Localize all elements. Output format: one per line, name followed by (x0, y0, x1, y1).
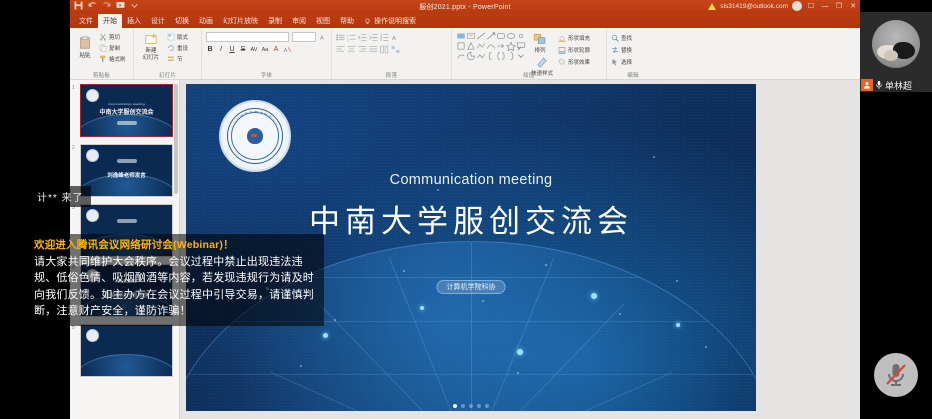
reset-icon (167, 44, 175, 52)
ribbon-group-editing: 查找 替换 选择 编辑 (607, 28, 659, 79)
thumbnail-number: 2 (72, 145, 75, 151)
clear-formatting-icon[interactable]: A (283, 45, 292, 54)
shape-brace-pair-icon[interactable] (496, 51, 506, 61)
replace-label: 替换 (621, 46, 632, 54)
shape-triangle-icon[interactable] (466, 41, 476, 51)
font-name-input[interactable] (206, 32, 289, 42)
avatar[interactable] (792, 1, 802, 11)
section-button[interactable]: 节 (167, 54, 188, 64)
ribbon-group-paragraph: 12 A 段落 (332, 28, 452, 79)
network-node (323, 333, 328, 338)
change-case-button[interactable]: Aa (261, 47, 269, 53)
format-painter-icon (99, 55, 107, 63)
shape-rounded-rect-icon[interactable] (496, 31, 506, 41)
layout-button[interactable]: 版式 (167, 32, 188, 42)
paste-label: 粘贴 (79, 51, 90, 59)
participant-name: 单林超 (885, 79, 912, 92)
underline-button[interactable]: U (228, 46, 236, 53)
thumb-logo (86, 329, 99, 342)
shape-square-icon[interactable] (456, 41, 466, 51)
thumb-globe (80, 114, 173, 137)
copy-icon (99, 44, 107, 52)
shape-pie-icon[interactable] (466, 51, 476, 61)
warning-triangle-icon (708, 3, 716, 10)
slide-org-chip: 计算机学院科协 (437, 280, 506, 294)
quick-styles-icon (535, 55, 549, 68)
svg-text:A: A (284, 48, 288, 54)
powerpoint-window: 服创2021.pptx - PowerPoint sls31419@outloo… (70, 0, 860, 419)
shape-outline-button[interactable]: 形状轮廓 (558, 45, 590, 55)
microphone-muted-icon (884, 362, 908, 388)
shape-fill-button[interactable]: 形状填充 (558, 33, 590, 43)
tab-record[interactable]: 录制 (263, 14, 287, 28)
ribbon: 粘贴 剪切 复制 格式刷 (70, 28, 860, 80)
scissors-icon (99, 33, 107, 41)
thumb-chip (117, 121, 137, 125)
shape-brace-left-icon[interactable] (486, 51, 496, 61)
thumbnail-title: 刘逸峰老师发言 (81, 171, 172, 179)
title-bar-right: sls31419@outlook.com ☐ — ❐ ✕ (708, 1, 858, 11)
shape-effects-icon (558, 58, 566, 66)
thumbnail-slide-1[interactable]: 1 Communication meeting 中南大学服创交流会 (80, 84, 173, 137)
svg-text:2: 2 (347, 37, 349, 41)
group-label-font: 字体 (202, 71, 331, 79)
network-node (676, 323, 680, 327)
justify-icon[interactable] (369, 45, 378, 54)
shape-fill-label: 形状填充 (568, 34, 590, 42)
arrange-label: 排列 (534, 46, 545, 54)
account-email[interactable]: sls31419@outlook.com (720, 3, 788, 10)
convert-smartart-icon[interactable] (391, 45, 400, 54)
replace-icon (611, 46, 619, 54)
select-icon (611, 58, 619, 66)
thumb-chip (117, 159, 137, 163)
microphone-icon (875, 80, 883, 90)
thumbnail-title: 中南大学服创交流会 (81, 107, 172, 116)
increase-font-size-icon[interactable]: A (319, 33, 327, 42)
close-button[interactable]: ✕ (848, 2, 858, 10)
reset-label: 重设 (177, 44, 188, 52)
participant-avatar (872, 20, 920, 68)
ribbon-tab-bar: 文件 开始 插入 设计 切换 动画 幻灯片放映 录制 审阅 视图 帮助 操作说明… (70, 14, 860, 28)
search-icon (611, 34, 619, 42)
increase-indent-icon[interactable] (369, 33, 378, 42)
align-right-icon[interactable] (358, 45, 367, 54)
network-node (591, 293, 597, 299)
shape-oval-icon[interactable] (506, 31, 516, 41)
columns-icon[interactable] (380, 45, 389, 54)
arrange-button[interactable]: 排列 (530, 32, 550, 54)
section-icon (167, 55, 175, 63)
csu-university-emblem (219, 100, 291, 172)
shape-fill-icon (558, 34, 566, 42)
shape-outline-label: 形状轮廓 (568, 46, 590, 54)
tab-review[interactable]: 审阅 (287, 14, 311, 28)
cut-label: 剪切 (109, 33, 120, 41)
format-painter-button[interactable]: 格式刷 (99, 54, 126, 64)
align-left-icon[interactable] (336, 45, 345, 54)
select-label: 选择 (621, 58, 632, 66)
thumb-logo (86, 209, 99, 222)
group-label-paragraph: 段落 (332, 71, 451, 79)
paste-icon (78, 36, 92, 50)
new-slide-icon (144, 33, 158, 47)
character-spacing-button[interactable]: AV (250, 47, 258, 53)
participant-name-bar: 单林超 (860, 78, 932, 92)
line-spacing-icon[interactable] (380, 33, 389, 42)
thumbnail-number: 1 (72, 85, 75, 91)
bold-button[interactable]: B (206, 46, 214, 53)
ribbon-group-clipboard: 粘贴 剪切 复制 格式刷 (70, 28, 134, 79)
shape-freeform-icon[interactable] (476, 41, 486, 51)
italic-button[interactable]: I (217, 46, 225, 53)
tab-insert[interactable]: 插入 (122, 14, 146, 28)
font-format-row: B I U S AV Aa A A (206, 45, 327, 54)
group-label-clipboard: 剪贴板 (70, 71, 133, 79)
format-painter-label: 格式刷 (109, 55, 126, 63)
notice-body: 请大家共同维护大会秩序。会议过程中禁止出现违法违规、低俗色情、吸烟酗酒等内容，若… (34, 254, 318, 320)
ribbon-group-slides: 新建幻灯片 版式 重设 节 (134, 28, 202, 79)
shape-gallery-more-icon[interactable] (516, 51, 526, 61)
shape-arc-icon[interactable] (456, 51, 466, 61)
strikethrough-button[interactable]: S (239, 46, 247, 53)
restore-button[interactable]: ❐ (834, 2, 844, 10)
copy-button[interactable]: 复制 (99, 43, 126, 53)
shape-brace-right-icon[interactable] (506, 51, 516, 61)
thumbnail-slide-5[interactable]: 5 (80, 324, 173, 377)
layout-label: 版式 (177, 33, 188, 41)
paste-button[interactable]: 粘贴 (74, 30, 96, 64)
cut-button[interactable]: 剪切 (99, 32, 126, 42)
section-label: 节 (177, 55, 183, 63)
thumb-logo (86, 149, 99, 162)
replace-button[interactable]: 替换 (611, 45, 655, 55)
notice-heading: 欢迎进入腾讯会议网络研讨会(Webinar)！ (34, 238, 318, 254)
find-label: 查找 (621, 34, 632, 42)
tab-transitions[interactable]: 切换 (170, 14, 194, 28)
decrease-indent-icon[interactable] (358, 33, 367, 42)
thumbnail-number: 5 (72, 325, 75, 331)
shape-arrow-icon[interactable] (486, 31, 496, 41)
font-size-input[interactable] (292, 32, 316, 42)
network-node (517, 349, 523, 355)
arrange-icon (533, 32, 547, 45)
mute-toggle-button[interactable] (874, 353, 918, 397)
thumb-globe (80, 354, 173, 377)
join-toast: 计** 来了 (30, 186, 91, 207)
tab-home[interactable]: 开始 (98, 14, 122, 28)
new-slide-button[interactable]: 新建幻灯片 (138, 30, 164, 64)
shape-star-icon[interactable] (506, 41, 516, 51)
tab-animations[interactable]: 动画 (194, 14, 218, 28)
shape-effects-button[interactable]: 形状效果 (558, 57, 590, 67)
svg-text:A: A (392, 36, 396, 42)
shape-more-icon[interactable] (516, 31, 526, 41)
tell-me-search[interactable]: 操作说明搜索 (359, 14, 421, 28)
reset-button[interactable]: 重设 (167, 43, 188, 53)
group-label-slides: 幻灯片 (134, 71, 201, 79)
group-label-drawing: 绘图 (452, 71, 606, 79)
shape-textbox-icon[interactable] (466, 31, 476, 41)
shape-arrow2-icon[interactable] (496, 41, 506, 51)
layout-icon (167, 33, 175, 41)
left-letterbox (0, 0, 70, 419)
thumbnail-slide-2[interactable]: 2 刘逸峰老师发言 (80, 144, 173, 197)
font-color-button[interactable]: A (272, 46, 280, 53)
text-direction-icon[interactable]: A (391, 33, 400, 42)
slide-pager (453, 404, 489, 408)
shape-rect-icon[interactable] (456, 31, 466, 41)
numbering-icon[interactable]: 12 (347, 33, 356, 42)
webinar-notice: 欢迎进入腾讯会议网络研讨会(Webinar)！ 请大家共同维护大会秩序。会议过程… (28, 234, 324, 326)
slide-subtitle-en: Communication meeting (186, 172, 756, 188)
shape-polyline-icon[interactable] (476, 51, 486, 61)
copy-label: 复制 (109, 44, 120, 52)
thumb-logo (86, 89, 99, 102)
ribbon-group-drawing: 排列 快速样式 形状填充 (452, 28, 607, 79)
ribbon-group-font: A B I U S AV Aa A A 字体 (202, 28, 332, 79)
bullets-icon[interactable] (336, 33, 345, 42)
new-slide-label: 新建幻灯片 (143, 48, 160, 60)
minimize-button[interactable]: — (820, 3, 830, 10)
lightbulb-icon (364, 18, 371, 25)
participant-video-tile[interactable]: 单林超 (860, 12, 932, 92)
thumbnail-scrollbar[interactable] (174, 84, 178, 194)
tab-design[interactable]: 设计 (146, 14, 170, 28)
select-button[interactable]: 选择 (611, 57, 655, 67)
tab-view[interactable]: 视图 (311, 14, 335, 28)
host-person-icon (861, 79, 873, 91)
tab-slideshow[interactable]: 幻灯片放映 (218, 14, 263, 28)
svg-text:A: A (320, 35, 324, 41)
screen-root: 服创2021.pptx - PowerPoint sls31419@outloo… (0, 0, 932, 419)
shape-callout-icon[interactable] (516, 41, 526, 51)
ribbon-display-options-icon[interactable]: ☐ (806, 2, 816, 10)
tab-help[interactable]: 帮助 (335, 14, 359, 28)
thumbnail-subtitle: Communication meeting (81, 102, 172, 106)
find-button[interactable]: 查找 (611, 33, 655, 43)
title-bar: 服创2021.pptx - PowerPoint sls31419@outloo… (70, 0, 860, 14)
tell-me-label: 操作说明搜索 (374, 16, 416, 26)
shape-outline-icon (558, 46, 566, 54)
group-label-editing: 编辑 (607, 71, 659, 79)
shape-effects-label: 形状效果 (568, 58, 590, 66)
align-center-icon[interactable] (347, 45, 356, 54)
tab-file[interactable]: 文件 (74, 14, 98, 28)
shape-line-icon[interactable] (476, 31, 486, 41)
shape-curve-icon[interactable] (486, 41, 496, 51)
thumb-chip (117, 219, 137, 223)
